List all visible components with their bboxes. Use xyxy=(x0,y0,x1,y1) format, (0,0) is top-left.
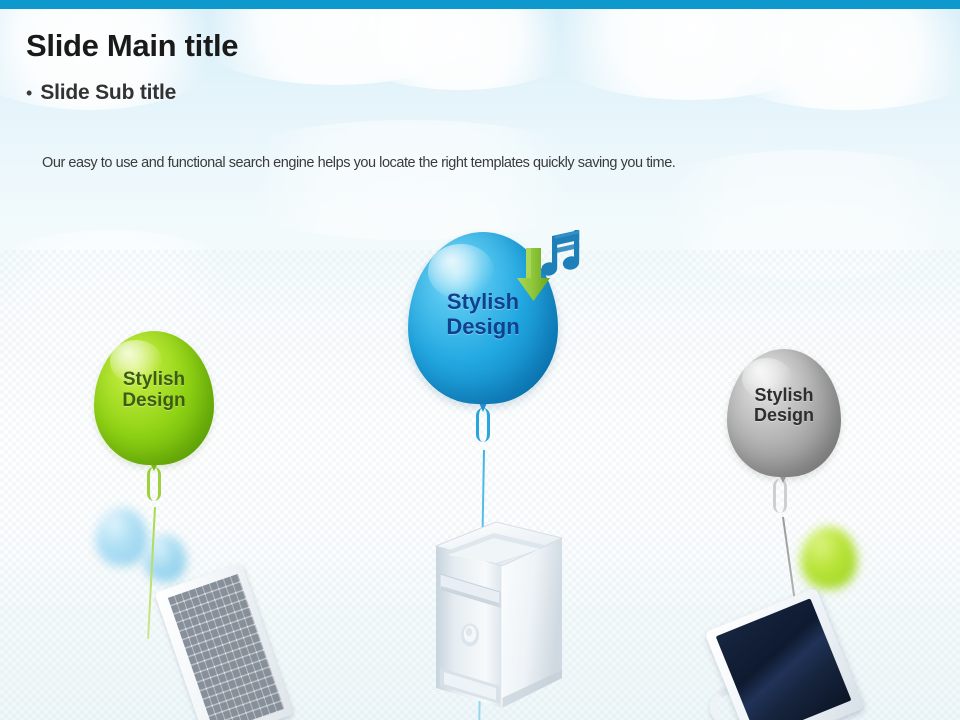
page-subtitle: Slide Sub title xyxy=(40,81,176,105)
down-arrow-icon xyxy=(513,247,555,308)
subtitle-row: • Slide Sub title xyxy=(26,81,176,105)
page-title: Slide Main title xyxy=(26,28,238,64)
balloon-ribbon-curl xyxy=(773,479,787,513)
top-accent-bar xyxy=(0,0,960,9)
cloud-decoration xyxy=(200,120,620,240)
keyboard-illustration[interactable] xyxy=(155,563,294,720)
blurred-balloon-green xyxy=(801,527,857,589)
body-paragraph: Our easy to use and functional search en… xyxy=(42,153,752,174)
cloud-decoration xyxy=(700,0,960,110)
bullet-marker: • xyxy=(26,84,32,102)
balloon-gray[interactable]: Stylish Design xyxy=(727,349,841,477)
balloon-label-line2: Design xyxy=(122,390,185,411)
balloon-label-line2: Design xyxy=(754,405,814,425)
slide-canvas: Slide Main title • Slide Sub title Our e… xyxy=(0,0,960,720)
cloud-decoration xyxy=(330,0,590,90)
blurred-balloon-blue xyxy=(96,508,148,566)
balloon-label-line1: Stylish xyxy=(447,289,519,314)
computer-tower-illustration[interactable] xyxy=(428,512,568,720)
balloon-green[interactable]: Stylish Design xyxy=(94,331,214,465)
balloon-label-green: Stylish Design xyxy=(94,369,214,412)
balloon-label-line1: Stylish xyxy=(123,369,185,390)
balloon-label-line1: Stylish xyxy=(754,385,813,405)
cloud-decoration xyxy=(520,0,860,100)
balloon-label-line2: Design xyxy=(446,314,519,339)
balloon-ribbon-curl xyxy=(476,408,490,442)
balloon-ribbon-curl xyxy=(147,467,161,501)
balloon-label-gray: Stylish Design xyxy=(727,385,841,426)
